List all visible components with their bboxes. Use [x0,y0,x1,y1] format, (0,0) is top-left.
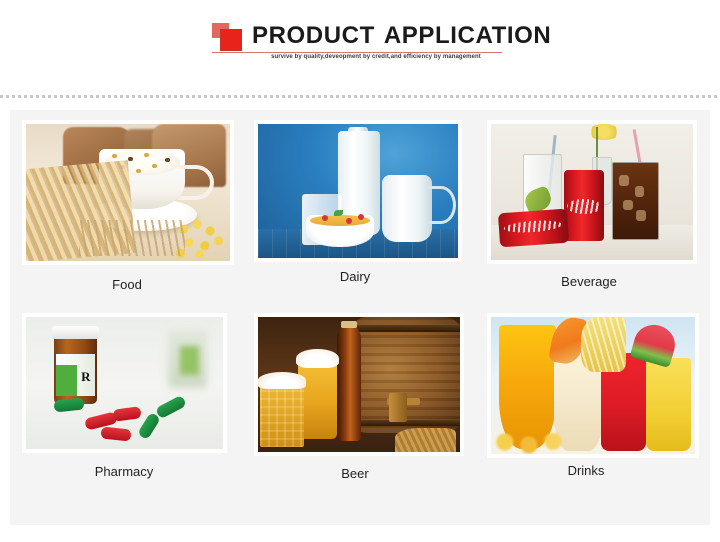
page-title: PRODUCTAPPLICATION [252,21,551,51]
gallery-item-beverage[interactable]: Beverage [474,120,692,290]
gallery-caption-beer: Beer [246,466,464,482]
milk-jug-handle [426,186,456,224]
thumbnail-frame-dairy [254,120,462,262]
cereal-flake [144,153,149,157]
thumbnail-image-pharmacy: R [26,317,223,449]
thumbnail-image-food [26,124,230,261]
beer-mug [260,382,304,447]
cola-glass [612,162,658,240]
gallery-item-dairy[interactable]: Dairy [246,120,464,285]
dotted-divider [0,95,720,98]
beer-glass-foam [296,349,338,368]
page-subtitle: survive by quality,deveopment by credit,… [250,54,502,60]
gallery-item-pharmacy[interactable]: R Pharmacy [18,313,236,480]
pill-bottle-cap [52,326,99,339]
title-underline-rule [212,52,502,53]
gallery-caption-pharmacy: Pharmacy [12,464,236,480]
beer-bottle [337,325,361,441]
coca-cola-wordmark [504,219,562,234]
berry [346,218,352,224]
title-block: PRODUCTAPPLICATION survive by quality,de… [212,20,508,52]
barrel-tap [389,393,407,423]
gallery-item-beer[interactable]: Beer [246,313,464,482]
pineapple-wedge-garnish [581,317,626,372]
beer-mug-foam [258,372,306,388]
logo-square-front [220,29,242,51]
thumbnail-frame-beer [254,313,464,456]
two-overlapping-squares-logo-icon [212,22,244,50]
yellow-juice-glass [646,358,691,451]
milk-jug [382,175,432,242]
berry [358,214,364,220]
cereal-flake [165,158,170,162]
gallery-caption-beverage: Beverage [486,274,692,290]
gallery-item-food[interactable]: Food [18,120,236,293]
cup-handle [177,165,214,200]
capsule-green [155,395,187,420]
coca-cola-can-upright [564,170,604,241]
thumbnail-image-beer [258,317,460,452]
coca-cola-can-lying [498,209,569,248]
ice-cube [636,210,646,221]
gallery-caption-drinks: Drinks [480,463,692,479]
barrel-band [347,325,460,332]
thumbnail-frame-food [22,120,234,265]
thumbnail-image-beverage [491,124,693,260]
prescription-r-mark: R [81,370,90,383]
fruit-foreground [491,424,577,454]
ice-cube [619,175,629,186]
background-green-blurred [180,346,200,375]
ice-cube [623,200,633,211]
pill-bottle-label-green-band [56,365,78,397]
thumbnail-image-dairy [258,124,458,258]
wheat-stems [79,220,185,256]
beer-glass [298,358,336,439]
wheat-pile [395,428,456,452]
yellow-flower [588,124,620,140]
mint-leaf [334,210,343,216]
capsule-red [112,406,141,422]
capsule-green [53,397,84,412]
page-header: PRODUCTAPPLICATION survive by quality,de… [0,0,720,96]
capsule-green [137,412,161,440]
page-title-primary: PRODUCT [252,22,375,49]
gallery-caption-dairy: Dairy [246,269,464,285]
coca-cola-wordmark [567,199,601,215]
title-row: PRODUCTAPPLICATION [212,20,508,52]
ice-cube [635,186,645,197]
cereal-flake [128,157,133,161]
gallery-caption-food: Food [18,277,236,293]
capsule-red [100,426,131,441]
thumbnail-frame-beverage [487,120,697,264]
page-title-secondary: APPLICATION [384,22,552,49]
beer-bottle-cap [341,321,357,328]
gallery-item-drinks[interactable]: Drinks [474,313,692,479]
thumbnail-image-drinks [491,317,695,454]
cereal-flake [112,154,117,158]
thumbnail-frame-drinks [487,313,699,458]
thumbnail-frame-pharmacy: R [22,313,227,453]
content-panel: Food Dairy [10,110,710,525]
product-application-grid: Food Dairy [10,110,710,525]
